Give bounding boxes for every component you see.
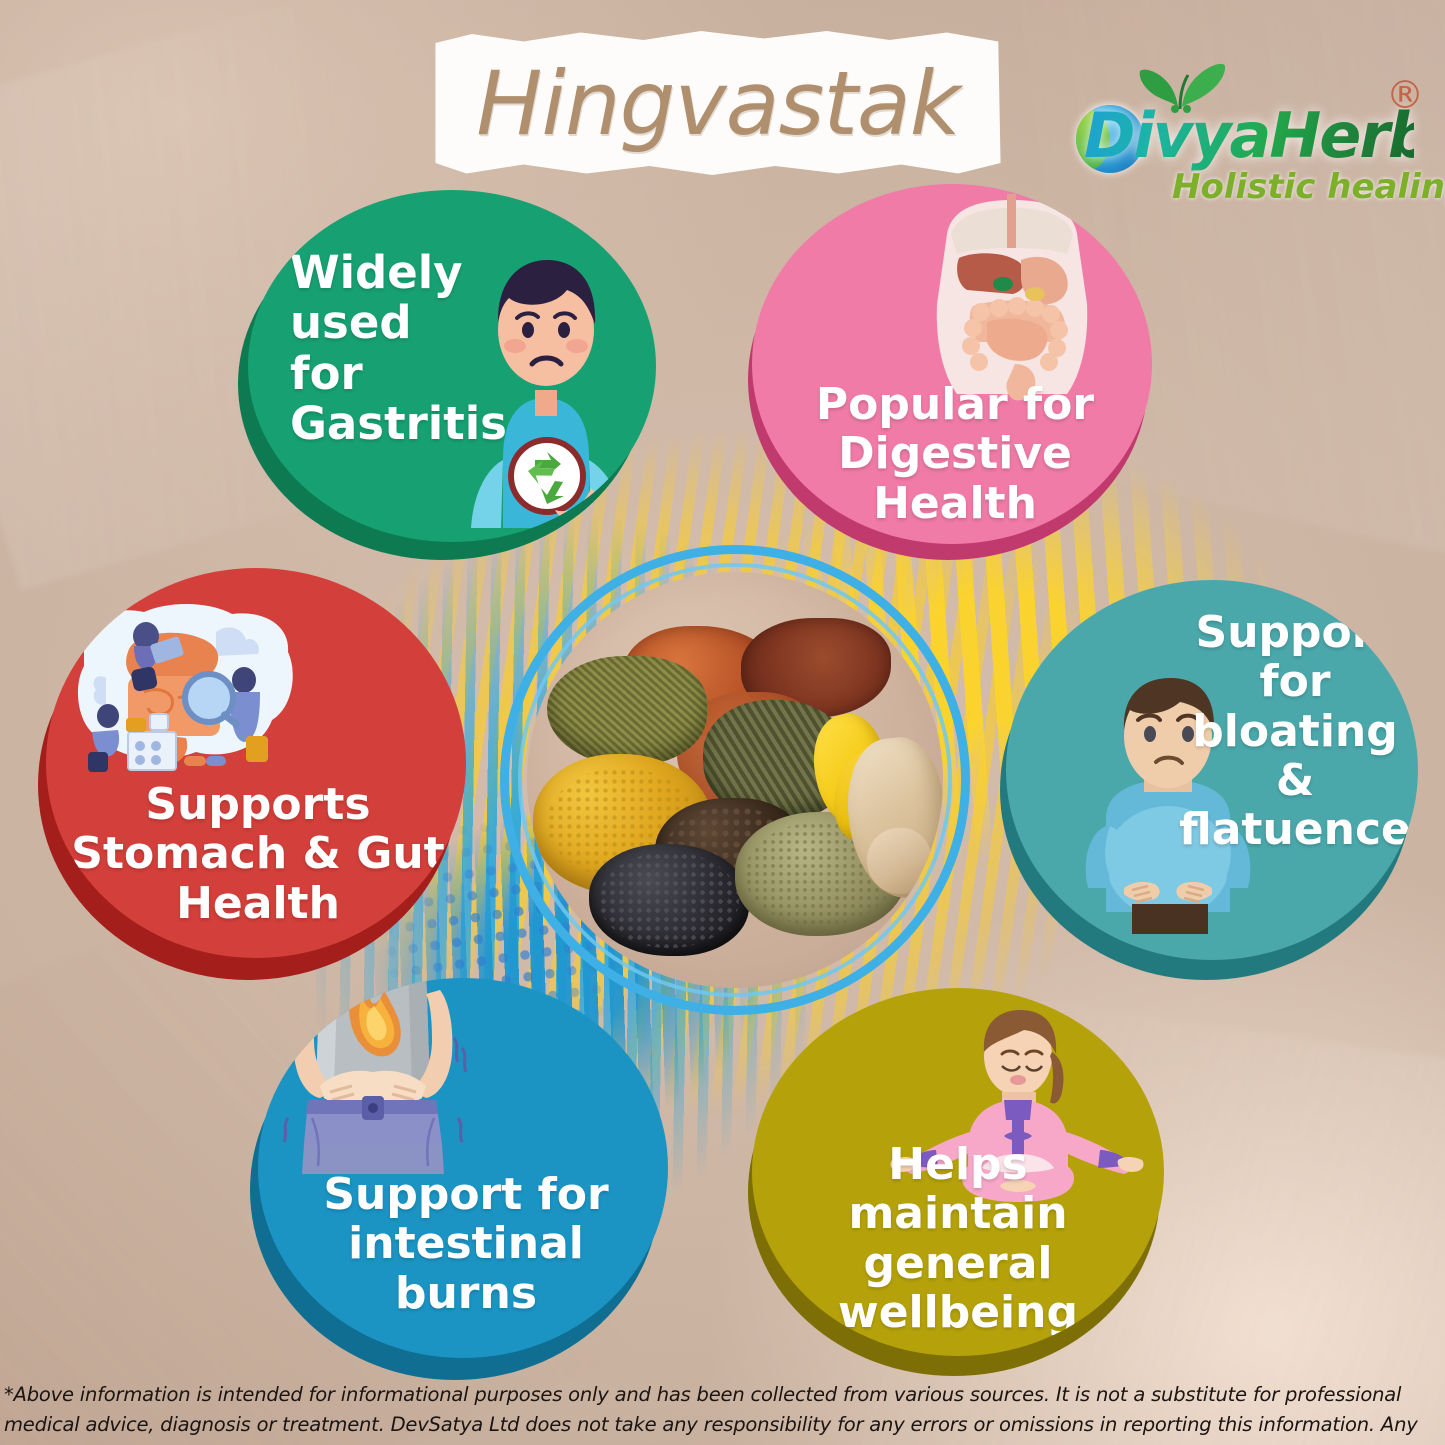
- brand-name: DivyaHerb: [1084, 99, 1414, 175]
- benefit-bubble-digestive-health[interactable]: Popular for Digestive Health: [752, 184, 1152, 544]
- digestive-system-anatomy-icon: [917, 194, 1107, 404]
- benefit-bubble-intestinal-burns[interactable]: Support for intestinal burns: [258, 978, 668, 1358]
- benefit-label: Support for bloating & flatuence: [1170, 608, 1418, 854]
- brand-tagline: Holistic healing: [1172, 167, 1422, 207]
- stomach-burning-icon: [258, 978, 488, 1178]
- benefit-label: Widely used for Gastritis: [290, 248, 480, 450]
- disclaimer-text: *Above information is intended for infor…: [4, 1380, 1441, 1445]
- benefit-label: Helps maintain general wellbeing: [778, 1140, 1138, 1337]
- benefit-bubble-stomach-gut[interactable]: Supports Stomach & Gut Health: [46, 568, 466, 958]
- benefit-label: Popular for Digestive Health: [790, 380, 1120, 528]
- registered-mark: ®: [1386, 73, 1424, 117]
- center-ring-inner: [518, 563, 952, 997]
- page-title: Hingvastak: [432, 28, 1004, 178]
- brand-logo: DivyaHerb ® Holistic healing: [1060, 55, 1430, 225]
- benefit-label: Support for intestinal burns: [292, 1170, 640, 1318]
- benefit-bubble-bloating[interactable]: Support for bloating & flatuence: [1006, 580, 1418, 960]
- intestine-research-icon: [66, 596, 306, 786]
- benefit-label: Supports Stomach & Gut Health: [70, 780, 446, 928]
- benefit-bubble-wellbeing[interactable]: Helps maintain general wellbeing: [752, 988, 1164, 1356]
- benefit-bubble-gastritis[interactable]: Widely used for Gastritis: [248, 190, 656, 542]
- infographic-canvas: Hingvastak DivyaHerb ® Holistic healing: [0, 0, 1445, 1445]
